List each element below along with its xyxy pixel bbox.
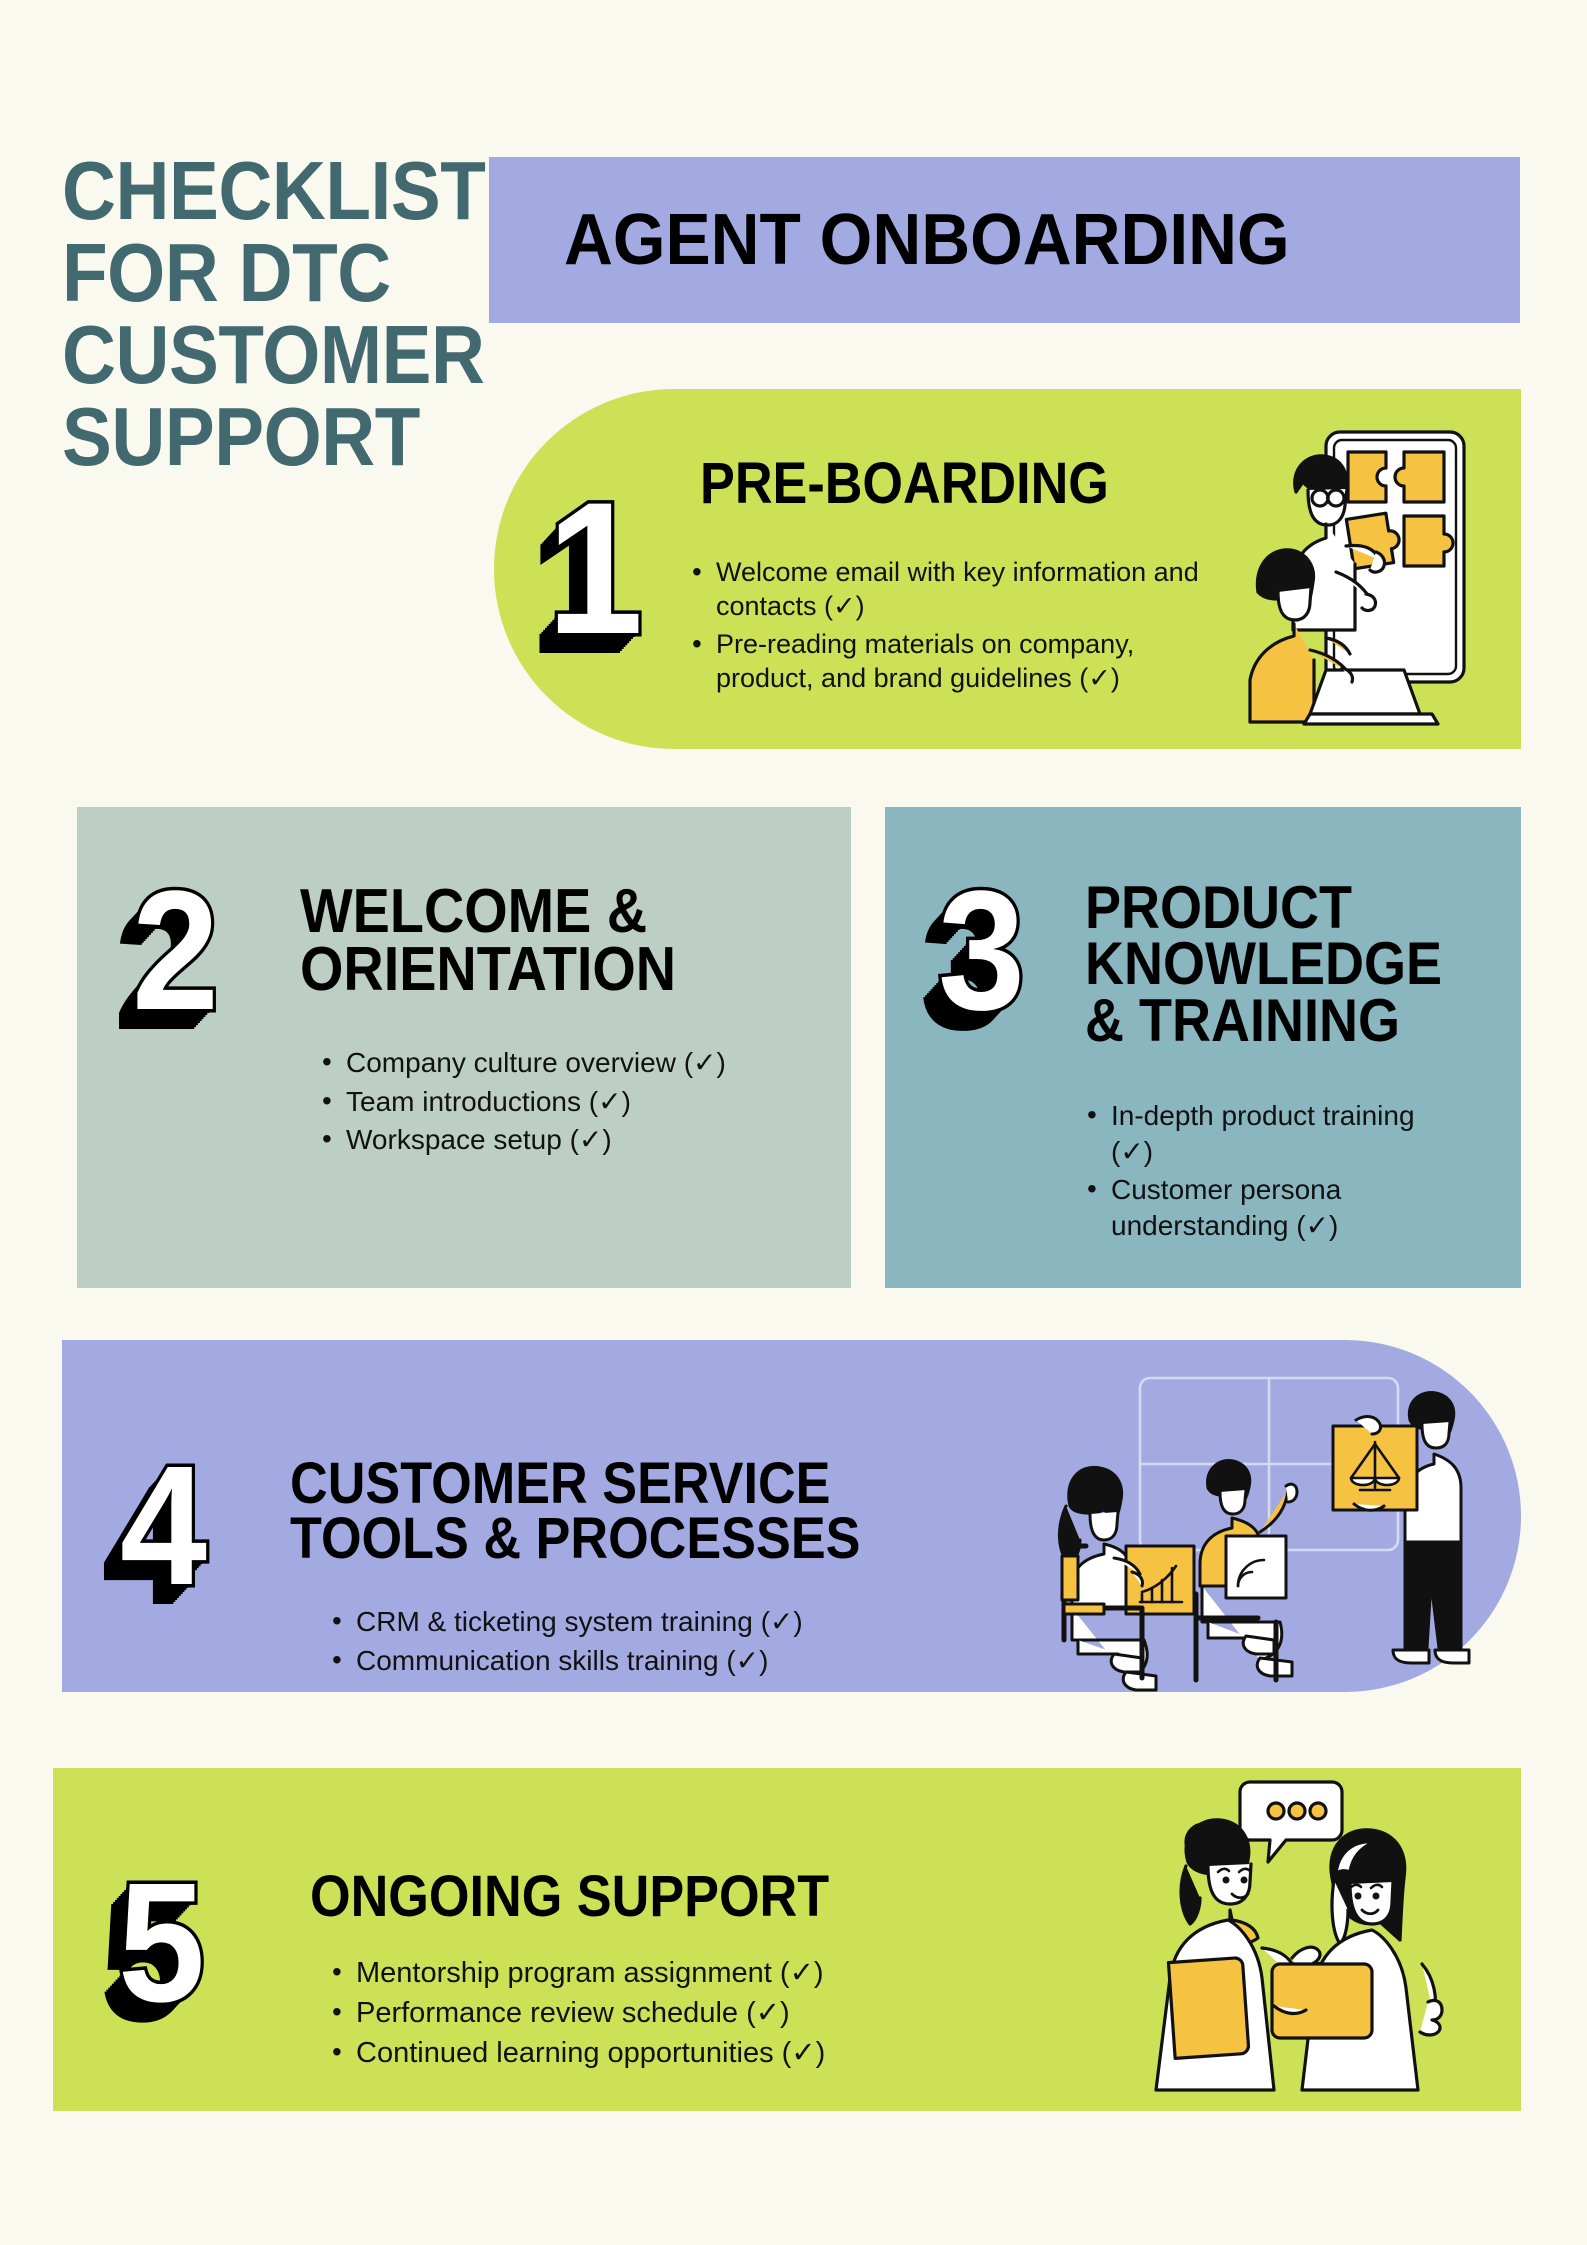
step-bullets-5: Mentorship program assignment (✓) Perfor… bbox=[330, 1955, 980, 2074]
list-item: Welcome email with key information and c… bbox=[690, 555, 1220, 624]
list-item: Company culture overview (✓) bbox=[320, 1045, 780, 1081]
list-item: Customer persona understanding (✓) bbox=[1085, 1172, 1415, 1243]
step-heading-2: WELCOME & ORIENTATION bbox=[300, 883, 678, 1000]
title-line-1: CHECKLIST bbox=[62, 150, 440, 232]
step-number-5: 5 bbox=[118, 1858, 205, 2028]
list-item: Mentorship program assignment (✓) bbox=[330, 1955, 980, 1992]
list-item: CRM & ticketing system training (✓) bbox=[330, 1604, 970, 1640]
list-item: Performance review schedule (✓) bbox=[330, 1995, 980, 2032]
title-line-4: SUPPORT bbox=[62, 396, 440, 478]
step-number-2: 2 bbox=[132, 866, 219, 1036]
header-banner-label: AGENT ONBOARDING bbox=[564, 204, 1290, 276]
step-bullets-2: Company culture overview (✓) Team introd… bbox=[320, 1045, 780, 1161]
list-item: In-depth product training (✓) bbox=[1085, 1098, 1415, 1169]
two-people-conversation-illustration bbox=[1128, 1762, 1488, 2107]
step-number-4: 4 bbox=[120, 1441, 207, 1611]
step-heading-4: CUSTOMER SERVICE TOOLS & PROCESSES bbox=[290, 1457, 992, 1566]
list-item: Team introductions (✓) bbox=[320, 1084, 780, 1120]
step-number-3: 3 bbox=[938, 866, 1025, 1036]
step-bullets-1: Welcome email with key information and c… bbox=[690, 555, 1220, 698]
list-item: Continued learning opportunities (✓) bbox=[330, 2035, 980, 2072]
step-heading-3: PRODUCT KNOWLEDGE & TRAINING bbox=[1085, 880, 1472, 1049]
header-banner: AGENT ONBOARDING bbox=[489, 157, 1520, 323]
puzzle-board-collaboration-illustration bbox=[1238, 420, 1528, 735]
step-bullets-3: In-depth product training (✓) Customer p… bbox=[1085, 1098, 1415, 1246]
step-heading-5: ONGOING SUPPORT bbox=[310, 1870, 829, 1925]
list-item: Pre-reading materials on company, produc… bbox=[690, 627, 1220, 696]
step-number-1: 1 bbox=[547, 474, 643, 662]
training-presentation-illustration bbox=[1030, 1368, 1500, 1693]
step-bullets-4: CRM & ticketing system training (✓) Comm… bbox=[330, 1604, 970, 1681]
list-item: Workspace setup (✓) bbox=[320, 1122, 780, 1158]
title-line-3: CUSTOMER bbox=[62, 314, 440, 396]
page-title: CHECKLIST FOR DTC CUSTOMER SUPPORT bbox=[62, 150, 482, 479]
step-heading-1: PRE-BOARDING bbox=[700, 457, 1109, 512]
list-item: Communication skills training (✓) bbox=[330, 1643, 970, 1679]
infographic-poster: CHECKLIST FOR DTC CUSTOMER SUPPORT AGENT… bbox=[0, 0, 1587, 2245]
title-line-2: FOR DTC bbox=[62, 232, 440, 314]
